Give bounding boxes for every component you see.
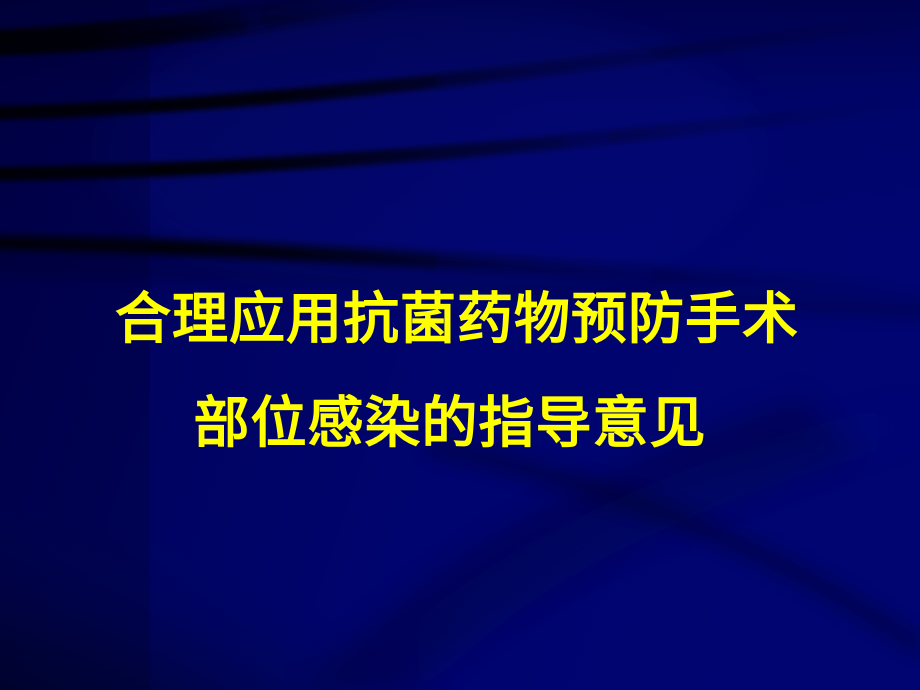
title-slide: 合理应用抗菌药物预防手术 部位感染的指导意见 — [0, 0, 920, 690]
slide-title: 合理应用抗菌药物预防手术 部位感染的指导意见 — [0, 268, 920, 476]
title-line-1: 合理应用抗菌药物预防手术 — [0, 268, 920, 372]
title-line-2: 部位感染的指导意见 — [0, 372, 920, 476]
